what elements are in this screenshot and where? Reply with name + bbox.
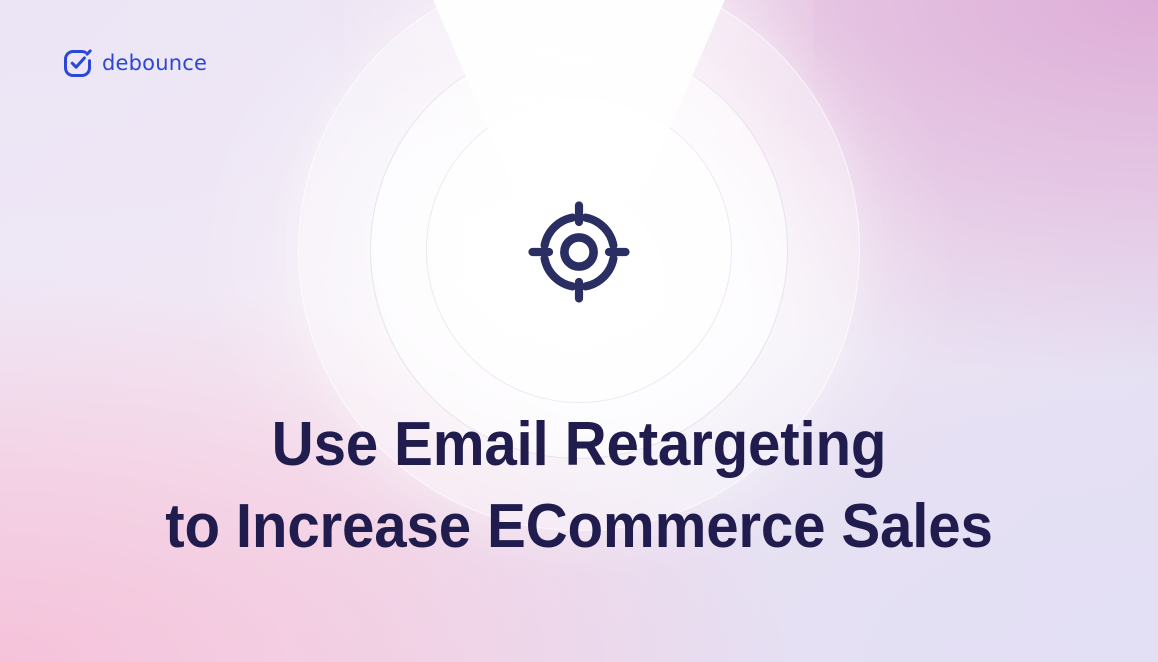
hero-banner: debounce Use Email Retargeting to [0,0,1158,662]
brand-wordmark: debounce [102,53,207,74]
title-line-2: to Increase ECommerce Sales [35,486,1124,568]
check-badge-icon [62,48,93,79]
target-crosshair-icon [527,200,631,304]
brand-logo[interactable]: debounce [62,48,207,79]
title-line-1: Use Email Retargeting [35,404,1124,486]
page-title: Use Email Retargeting to Increase EComme… [0,404,1158,568]
